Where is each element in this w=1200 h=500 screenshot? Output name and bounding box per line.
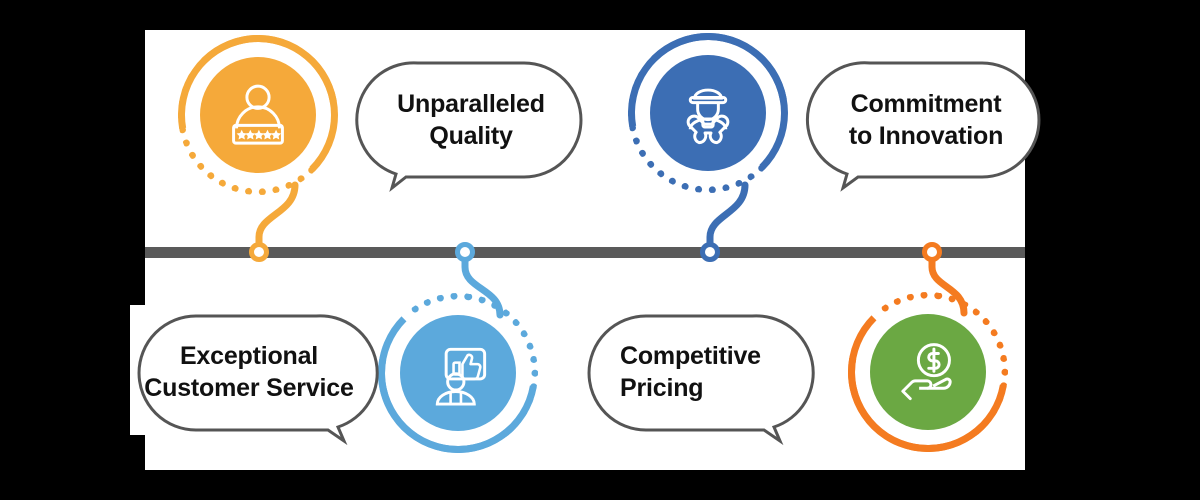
label-bubble-4-text: Competitive Pricing — [588, 315, 796, 429]
label-line: to Innovation — [849, 120, 1003, 153]
label-line: Exceptional — [180, 340, 318, 373]
label-bubble-2[interactable]: Commitment to Innovation — [812, 62, 1040, 180]
label-line: Competitive — [620, 340, 761, 373]
icon-circle-3[interactable] — [378, 293, 538, 453]
user-five-star-rating-icon — [221, 78, 295, 152]
timeline-node[interactable] — [249, 242, 269, 262]
icon-circle-1[interactable] — [178, 35, 338, 195]
label-bubble-2-text: Commitment to Innovation — [812, 62, 1040, 178]
hand-holding-dollar-icon — [891, 335, 965, 409]
timeline-bar — [145, 247, 1025, 258]
label-line: Unparalleled — [397, 88, 545, 121]
timeline-node[interactable] — [700, 242, 720, 262]
label-bubble-1-text: Unparalleled Quality — [362, 62, 580, 178]
label-bubble-1[interactable]: Unparalleled Quality — [362, 62, 580, 180]
timeline-node[interactable] — [922, 242, 942, 262]
label-bubble-3-text: Exceptional Customer Service — [138, 315, 360, 429]
label-bubble-3[interactable]: Exceptional Customer Service — [138, 315, 364, 431]
label-line: Quality — [429, 120, 512, 153]
technician-wrench-icon — [671, 76, 745, 150]
icon-disc-4 — [870, 314, 986, 430]
thumbs-up-support-icon — [421, 336, 495, 410]
timeline-node[interactable] — [455, 242, 475, 262]
label-line: Pricing — [620, 372, 703, 405]
label-line: Customer Service — [144, 372, 353, 405]
icon-circle-4[interactable] — [848, 292, 1008, 452]
icon-disc-2 — [650, 55, 766, 171]
icon-disc-1 — [200, 57, 316, 173]
icon-disc-3 — [400, 315, 516, 431]
label-line: Commitment — [851, 88, 1002, 121]
label-bubble-4[interactable]: Competitive Pricing — [588, 315, 800, 431]
infographic-canvas: Unparalleled Quality — [0, 0, 1200, 500]
icon-circle-2[interactable] — [628, 33, 788, 193]
